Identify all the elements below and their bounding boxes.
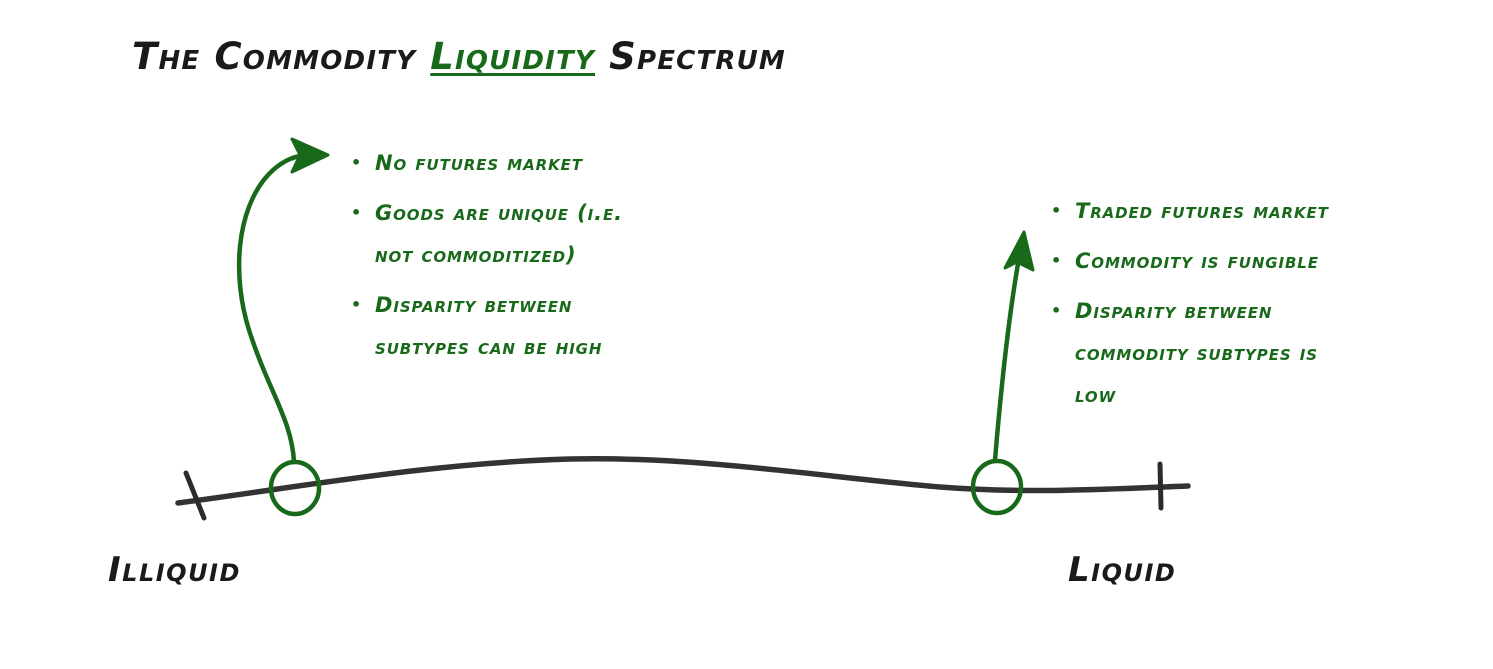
illiquid-endpoint-label: Illiquid [108,550,241,590]
spectrum-line [178,459,1188,503]
page-title-suffix: Spectrum [595,35,786,78]
list-item-label: No futures market [375,142,745,184]
list-item: • Goods are unique (i.e. not commoditize… [345,192,745,276]
list-item-label: Disparity between commodity subtypes is … [1075,290,1445,416]
illiquid-callout-arrow-shaft [239,155,306,462]
page-title: The Commodity Liquidity Spectrum [132,37,786,78]
liquid-callout-arrow-head [1005,232,1033,270]
page-title-prefix: The Commodity [132,35,430,78]
page-title-highlight: Liquidity [430,35,595,78]
axis-tick-right-icon [1160,464,1161,508]
list-item: • No futures market [345,142,745,184]
list-item-label: Disparity between subtypes can be high [375,284,745,368]
illiquid-callout-list: • No futures market • Goods are unique (… [345,142,745,376]
liquid-callout-arrow-shaft [995,258,1019,460]
illiquid-callout-arrow-head [292,139,328,172]
list-item: • Disparity between commodity subtypes i… [1045,290,1445,416]
list-item-label: Goods are unique (i.e. not commoditized) [375,192,745,276]
list-item: • Commodity is fungible [1045,240,1445,282]
list-item: • Disparity between subtypes can be high [345,284,745,368]
bullet-dot-icon: • [1045,190,1075,232]
bullet-dot-icon: • [1045,290,1075,332]
liquid-endpoint-label: Liquid [1068,550,1176,590]
bullet-dot-icon: • [345,284,375,326]
illiquid-node-circle [271,462,319,514]
list-item-label: Commodity is fungible [1075,240,1445,282]
bullet-dot-icon: • [345,142,375,184]
liquid-callout-list: • Traded futures market • Commodity is f… [1045,190,1445,424]
diagram-canvas: The Commodity Liquidity Spectrum • No fu… [0,0,1493,669]
list-item-label: Traded futures market [1075,190,1445,232]
bullet-dot-icon: • [345,192,375,234]
liquid-node-circle [973,461,1021,513]
axis-tick-left-icon [186,473,204,518]
bullet-dot-icon: • [1045,240,1075,282]
list-item: • Traded futures market [1045,190,1445,232]
